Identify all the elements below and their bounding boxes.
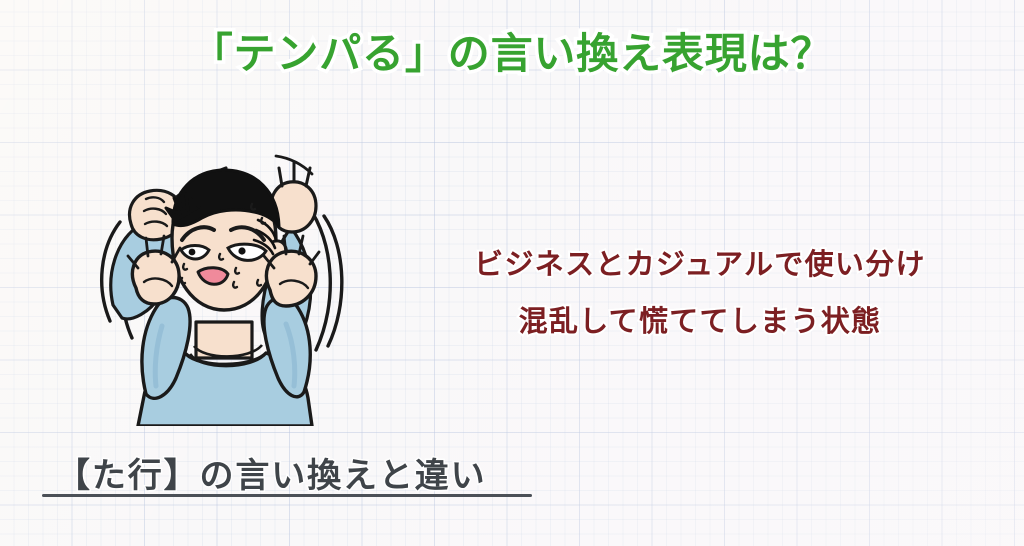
subcopy-block: ビジネスとカジュアルで使い分け 混乱して慌ててしまう状態 bbox=[420, 236, 980, 349]
subcopy-line-1: ビジネスとカジュアルで使い分け bbox=[420, 236, 980, 293]
page-title: 「テンパる」の言い換え表現は？ bbox=[0, 28, 1024, 81]
bottom-heading: 【た行】の言い換えと違い bbox=[56, 448, 486, 497]
subcopy-line-2: 混乱して慌ててしまう状態 bbox=[420, 293, 980, 350]
panicking-man-illustration bbox=[76, 96, 366, 426]
bottom-heading-underline bbox=[42, 494, 532, 497]
thumbnail-canvas: 「テンパる」の言い換え表現は？ ビジネスとカジュアルで使い分け 混乱して慌ててし… bbox=[0, 0, 1024, 546]
